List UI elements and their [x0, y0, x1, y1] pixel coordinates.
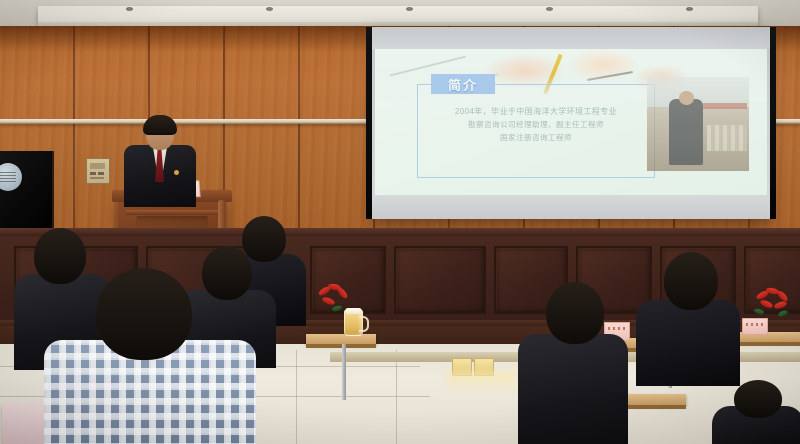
wall-control-panel[interactable]: [86, 158, 110, 184]
slide-inset-photo: [647, 77, 749, 171]
glasses-icon: [148, 131, 172, 137]
screen-bottom-band: [372, 195, 770, 219]
slide-title-text: 简介: [448, 75, 478, 94]
screen-surface: 简介 2004年，毕业于中国海洋大学环境工程专业 勘察咨询公司经理助理、副主任工…: [372, 27, 770, 219]
panel-screen-icon: [90, 163, 105, 169]
poinsettia-petal: [336, 286, 349, 300]
screen-right-edge: [770, 27, 776, 219]
inset-person: [669, 99, 703, 165]
inset-banner: [703, 103, 747, 109]
downlight-icon: [406, 7, 413, 11]
emblem-icon: [0, 163, 22, 191]
slide-body-line: 国家注册咨询工程师: [421, 131, 651, 144]
podium-shelf: [126, 210, 218, 215]
wainscot-panel: [394, 246, 486, 314]
downlight-icon: [126, 7, 133, 11]
left-display-board: [0, 151, 54, 235]
inset-equipment: [707, 125, 747, 151]
floor-reflection: [446, 372, 516, 394]
lapel-badge-icon: [174, 170, 179, 175]
slide-title-chip: 简介: [431, 74, 495, 94]
poinsettia-leaf: [777, 309, 788, 317]
slide-body-text: 2004年，毕业于中国海洋大学环境工程专业 勘察咨询公司经理助理、副主任工程师 …: [421, 105, 651, 144]
audience-member-center-check: [44, 268, 256, 444]
audience-head: [734, 380, 782, 418]
audience-head: [96, 268, 192, 360]
downlight-icon: [266, 7, 273, 11]
ceiling-soffit: [38, 6, 758, 28]
desk-edge: [306, 344, 376, 348]
floor-tile-seam: [396, 350, 397, 444]
panel-slot-icon: [90, 177, 104, 179]
conference-hall-photo: 简介 2004年，毕业于中国海洋大学环境工程专业 勘察咨询公司经理助理、副主任工…: [0, 0, 800, 444]
audience-member-mid-right: [518, 282, 628, 444]
audience-head: [546, 282, 604, 344]
slide-body-line: 2004年，毕业于中国海洋大学环境工程专业: [421, 105, 651, 118]
poinsettia-plant: [752, 286, 800, 322]
poinsettia-plant: [316, 284, 360, 318]
audience-head: [664, 252, 718, 310]
wainscot-top-rail: [0, 228, 800, 236]
slide-body-line: 勘察咨询公司经理助理、副主任工程师: [421, 118, 651, 131]
presentation-slide: 简介 2004年，毕业于中国海洋大学环境工程专业 勘察咨询公司经理助理、副主任工…: [375, 49, 767, 195]
projection-screen: 简介 2004年，毕业于中国海洋大学环境工程专业 勘察咨询公司经理助理、副主任工…: [372, 27, 770, 219]
poinsettia-leaf: [754, 308, 765, 316]
audience-member-right-far: [636, 252, 740, 384]
poinsettia-petal: [321, 296, 335, 306]
floor-tile-seam: [296, 350, 297, 444]
downlight-icon: [686, 7, 693, 11]
downlight-icon: [546, 7, 553, 11]
inset-person-head: [679, 91, 694, 105]
panel-button-icon: [98, 172, 104, 175]
audience-suit: [636, 300, 740, 386]
poinsettia-leaf: [332, 305, 343, 312]
audience-member-right: [712, 380, 800, 444]
screen-top-band: [372, 27, 770, 49]
presenter: [120, 118, 200, 204]
desk-leg: [342, 344, 346, 400]
audience-suit: [518, 334, 628, 444]
poinsettia-petal: [759, 299, 773, 310]
mug-handle: [359, 316, 369, 332]
panel-button-icon: [90, 172, 96, 175]
desk: [306, 334, 376, 344]
poinsettia-petal: [773, 300, 787, 310]
